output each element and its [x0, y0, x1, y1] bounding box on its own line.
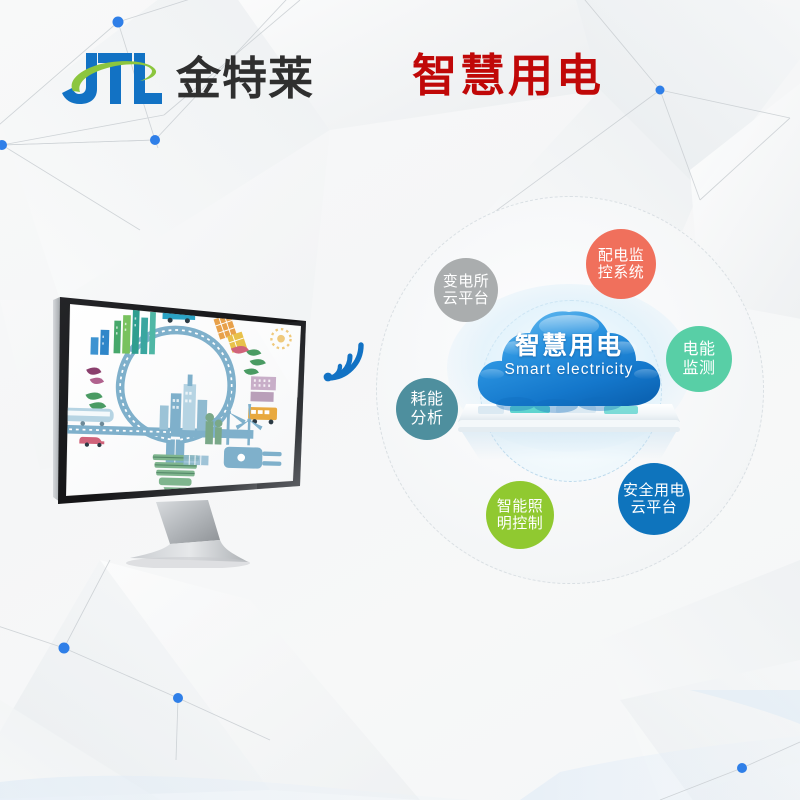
jtl-logo-mark [56, 47, 164, 109]
bubble-distribution-monitoring-system[interactable]: 配电监 控系统 [586, 229, 656, 299]
bubble-label: 电能 监测 [682, 340, 715, 377]
bubble-label: 智能照 明控制 [497, 498, 544, 533]
brand-logo: 金特莱 [56, 44, 314, 112]
bubble-label: 变电所 云平台 [443, 273, 490, 308]
desktop-monitor [52, 278, 322, 568]
apartment-right [250, 376, 276, 402]
bubble-substation-cloud-platform[interactable]: 变电所 云平台 [434, 258, 498, 322]
smart-electricity-platform-diagram: 智慧用电 Smart electricity 变电所 云平台配电监 控系统电能 … [368, 188, 772, 592]
page-title: 智慧用电 [412, 52, 604, 99]
bubble-safe-electricity-cloud-platform[interactable]: 安全用电 云平台 [618, 463, 690, 535]
bubble-energy-monitoring[interactable]: 电能 监测 [666, 326, 732, 392]
bubble-label: 配电监 控系统 [598, 247, 645, 282]
bubble-smart-lighting-control[interactable]: 智能照 明控制 [486, 481, 554, 549]
tablet-device [458, 404, 680, 460]
wifi-signal-icon [318, 332, 374, 388]
bubble-energy-consumption-analysis[interactable]: 耗能 分析 [396, 378, 458, 440]
poster-canvas: 金特莱 智慧用电 [0, 0, 800, 800]
greenhouse-icon [183, 455, 208, 465]
brand-name-cn: 金特莱 [176, 56, 314, 101]
bubble-label: 安全用电 云平台 [623, 482, 685, 517]
bubble-label: 耗能 分析 [410, 390, 443, 427]
wifi-dot [324, 373, 333, 382]
